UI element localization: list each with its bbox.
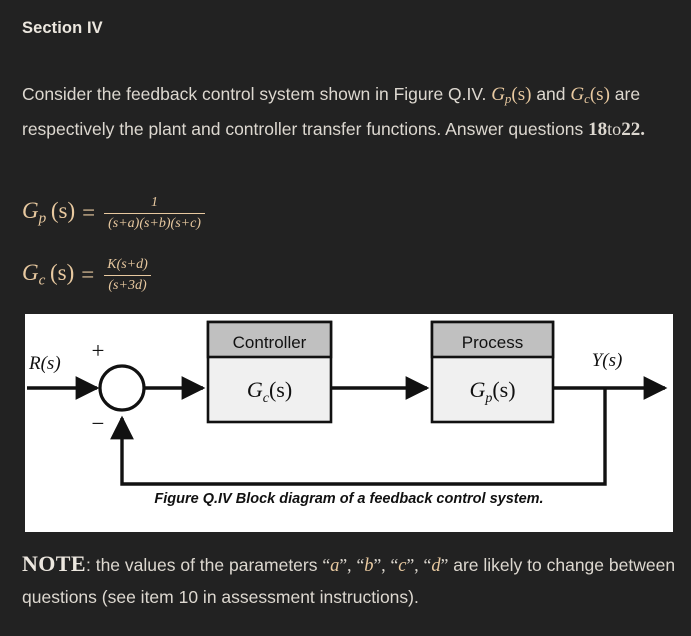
intro-paragraph: Consider the feedback control system sho…	[22, 79, 670, 145]
note-colon: :	[86, 555, 91, 575]
note-param-d: “d”	[424, 555, 449, 575]
gc-inline-symbol: Gc(s)	[570, 84, 610, 105]
question-page: Section IV Consider the feedback control…	[0, 0, 691, 636]
minus-sign-label: −	[92, 411, 105, 436]
figure-caption: Figure Q.IV Block diagram of a feedback …	[25, 491, 673, 507]
intro-text-part1: Consider the feedback control system sho…	[22, 84, 486, 104]
block-diagram-figure: + − R(s) Controller Gc(s)	[25, 314, 673, 532]
equation-gp-numerator: 1	[147, 194, 162, 213]
equation-gp-equals: =	[82, 200, 95, 226]
equation-gp-lhs: Gp (s)	[22, 198, 75, 228]
equation-gc: Gc (s) = K(s+d) (s+3d)	[22, 256, 152, 294]
equation-gc-equals: =	[81, 262, 94, 288]
controller-transfer-function: Gc(s)	[247, 377, 292, 406]
equation-gc-fraction: K(s+d) (s+3d)	[103, 256, 152, 294]
process-header-label: Process	[462, 333, 523, 352]
gp-inline-symbol: Gp(s)	[491, 84, 531, 105]
note-param-b: “b”,	[356, 555, 385, 575]
note-param-a: “a”,	[322, 555, 351, 575]
note-text-1: the values of the parameters	[96, 555, 318, 575]
note-text-2: are likely to	[453, 555, 542, 575]
section-heading: Section IV	[22, 19, 103, 38]
output-label: Y(s)	[592, 350, 623, 371]
intro-text-part2: and	[536, 84, 565, 104]
process-transfer-function: Gp(s)	[469, 377, 515, 406]
equation-gp-denominator: (s+a)(s+b)(s+c)	[104, 213, 205, 233]
block-diagram-svg: + − R(s) Controller Gc(s)	[25, 314, 673, 492]
plus-sign-label: +	[92, 338, 105, 363]
note-param-c: “c”,	[391, 555, 419, 575]
equation-gp-fraction: 1 (s+a)(s+b)(s+c)	[104, 194, 205, 232]
intro-text-part4: functions. Answer questions	[366, 119, 583, 139]
question-range-from: 18	[588, 119, 607, 140]
controller-header-label: Controller	[233, 333, 307, 352]
intro-period: .	[640, 119, 645, 140]
note-label: NOTE	[22, 551, 86, 576]
question-range-to: 22	[621, 119, 640, 140]
controller-block: Controller Gc(s)	[208, 322, 331, 422]
equation-gc-numerator: K(s+d)	[103, 256, 152, 275]
process-block: Process Gp(s)	[432, 322, 553, 422]
summing-junction	[100, 366, 144, 410]
note-block: NOTE: the values of the parameters “a”, …	[22, 548, 677, 613]
input-label: R(s)	[28, 353, 61, 374]
equation-gc-denominator: (s+3d)	[104, 275, 150, 295]
question-range-sep: to	[607, 119, 621, 139]
equation-gc-lhs: Gc (s)	[22, 260, 74, 290]
equation-gp: Gp (s) = 1 (s+a)(s+b)(s+c)	[22, 194, 205, 232]
